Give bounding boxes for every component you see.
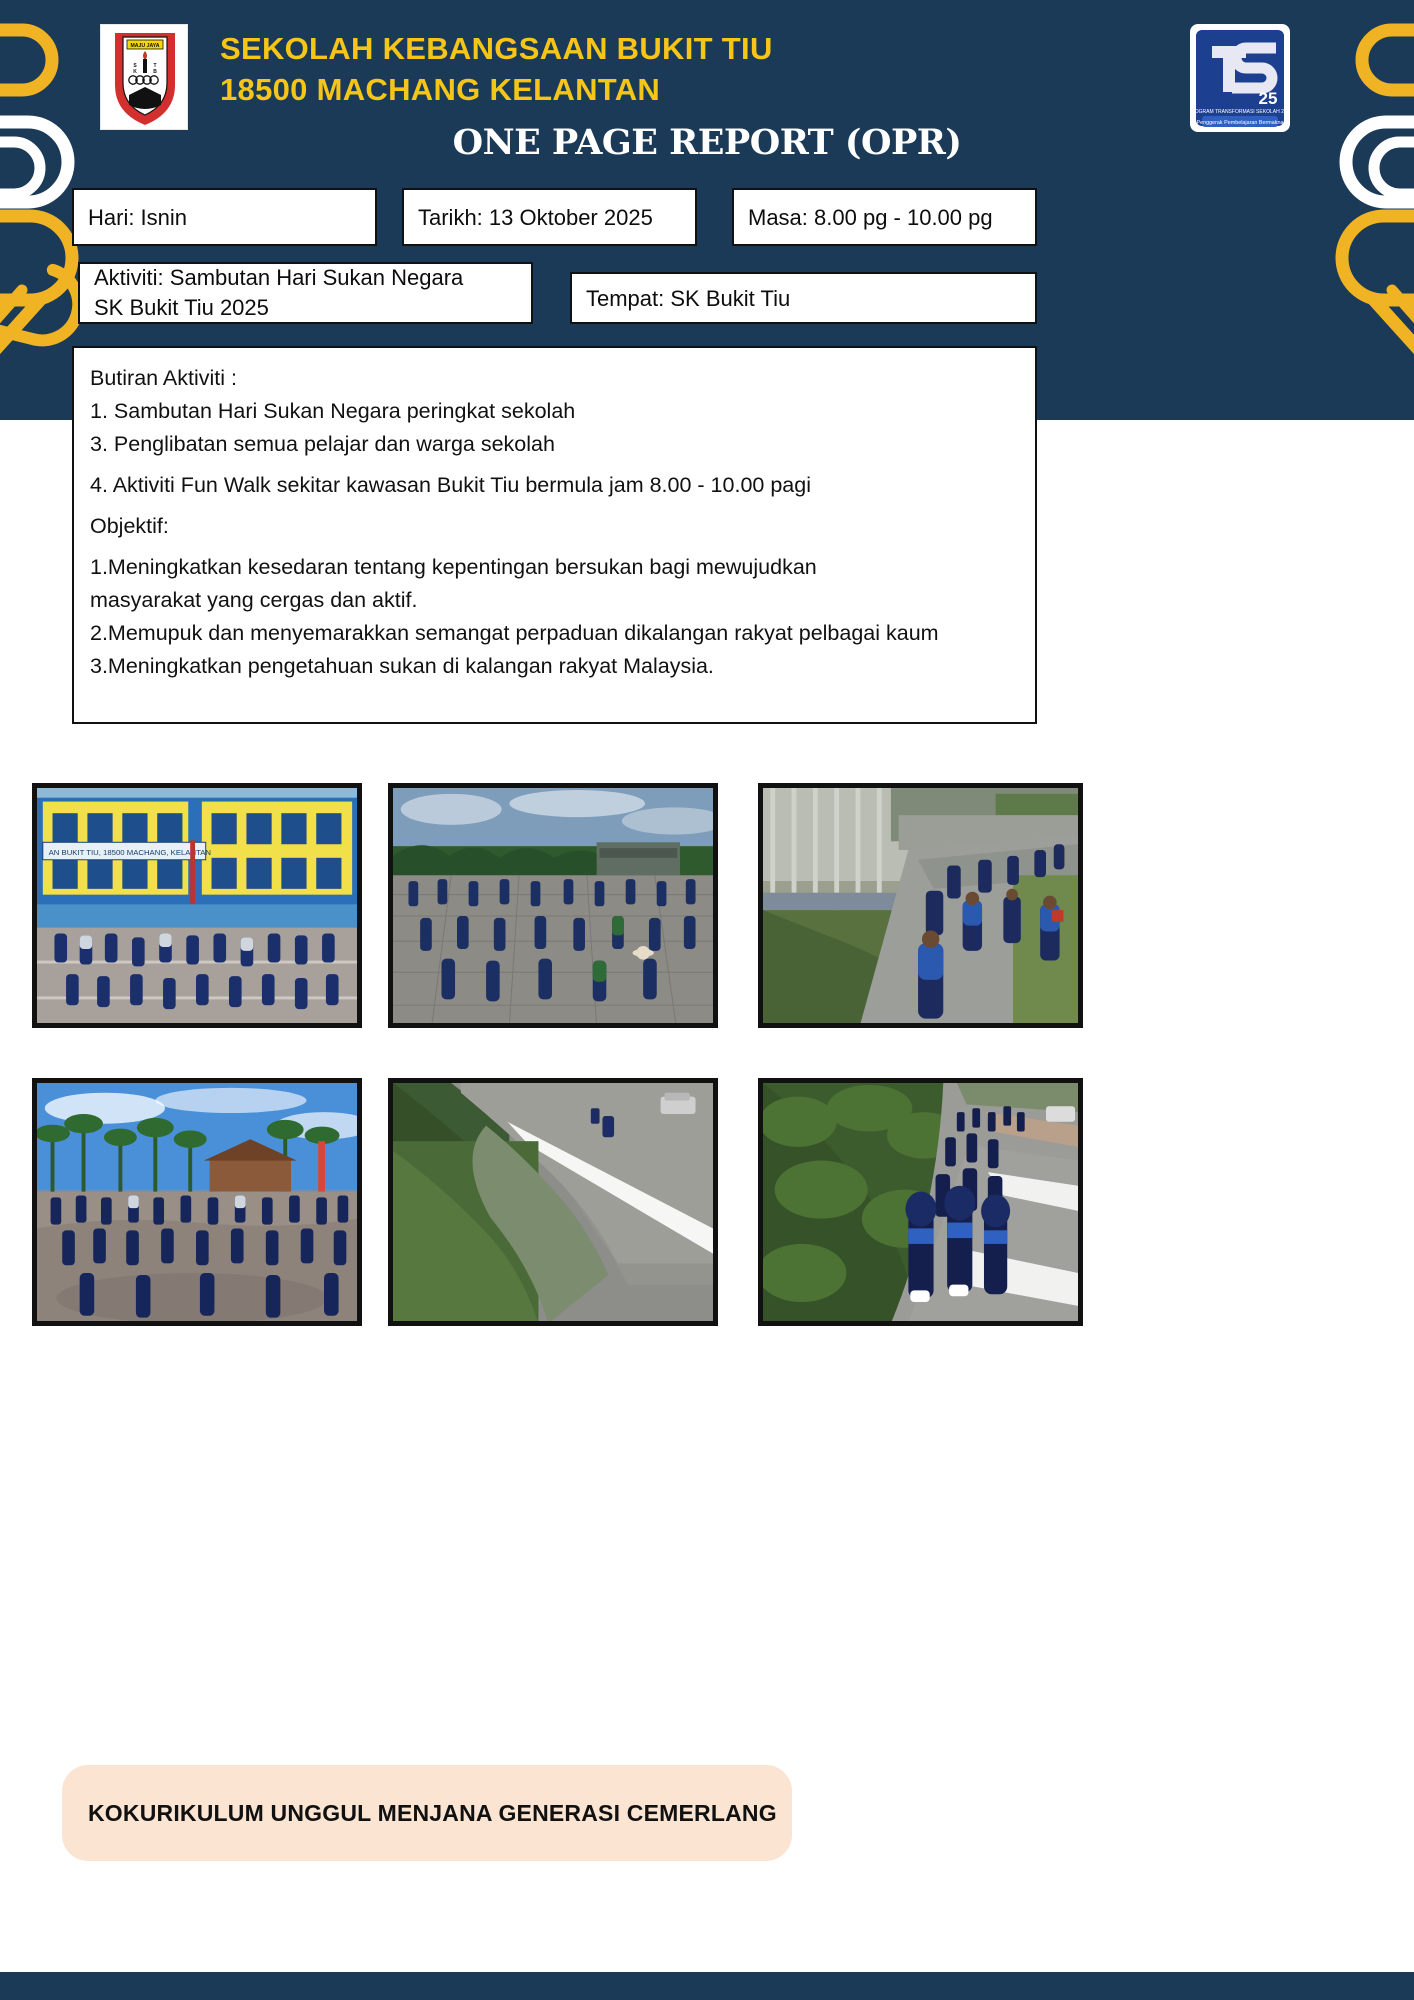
photo-5: [388, 1078, 718, 1326]
spacer: [90, 461, 1019, 469]
photo-6: [758, 1078, 1083, 1326]
svg-text:B: B: [153, 69, 157, 75]
objektif-heading: Objektif:: [90, 510, 1019, 543]
objektif-3: 3.Meningkatkan pengetahuan sukan di kala…: [90, 650, 1019, 683]
activity-details-box: Butiran Aktiviti : 1. Sambutan Hari Suka…: [72, 346, 1037, 724]
photo-3: [758, 783, 1083, 1028]
svg-text:MAJU JAYA: MAJU JAYA: [130, 43, 159, 49]
spacer: [90, 502, 1019, 510]
field-aktiviti-line-2: SK Bukit Tiu 2025: [94, 293, 463, 323]
field-aktiviti-line-1: Aktiviti: Sambutan Hari Sukan Negara: [94, 263, 463, 293]
photo-2: [388, 783, 718, 1028]
school-name-line-1: SEKOLAH KEBANGSAAN BUKIT TIU: [220, 28, 1120, 69]
butiran-item-3: 4. Aktiviti Fun Walk sekitar kawasan Buk…: [90, 469, 1019, 502]
field-masa-value: Masa: 8.00 pg - 10.00 pg: [748, 202, 993, 233]
school-name-line-2: 18500 MACHANG KELANTAN: [220, 69, 1120, 110]
butiran-item-1: 1. Sambutan Hari Sukan Negara peringkat …: [90, 395, 1019, 428]
butiran-heading: Butiran Aktiviti :: [90, 362, 1019, 395]
svg-text:K: K: [133, 69, 137, 75]
spacer: [90, 543, 1019, 551]
ts25-logo: 25 PROGRAM TRANSFORMASI SEKOLAH 2025 Pen…: [1190, 24, 1290, 132]
field-hari-value: Hari: Isnin: [88, 202, 187, 233]
butiran-item-2: 3. Penglibatan semua pelajar dan warga s…: [90, 428, 1019, 461]
school-crest-logo: MAJU JAYA S T K B SEKOLAH KEBANGSAAN BUK…: [100, 24, 188, 130]
field-hari: Hari: Isnin: [72, 188, 377, 246]
field-tempat-value: Tempat: SK Bukit Tiu: [586, 283, 790, 314]
field-tarikh-value: Tarikh: 13 Oktober 2025: [418, 202, 653, 233]
opr-page: MAJU JAYA S T K B SEKOLAH KEBANGSAAN BUK…: [0, 0, 1414, 2000]
photo-4: [32, 1078, 362, 1326]
objektif-2: 2.Memupuk dan menyemarakkan semangat per…: [90, 617, 1019, 650]
field-tarikh: Tarikh: 13 Oktober 2025: [402, 188, 697, 246]
field-tempat: Tempat: SK Bukit Tiu: [570, 272, 1037, 324]
photo-1: AN BUKIT TIU, 18500 MACHANG, KELANTAN: [32, 783, 362, 1028]
svg-text:PROGRAM TRANSFORMASI SEKOLAH 2: PROGRAM TRANSFORMASI SEKOLAH 2025: [1190, 109, 1290, 115]
objektif-1-line-1: 1.Meningkatkan kesedaran tentang kepenti…: [90, 551, 1019, 584]
field-masa: Masa: 8.00 pg - 10.00 pg: [732, 188, 1037, 246]
paperclip-decoration-right: [1294, 0, 1414, 420]
school-name: SEKOLAH KEBANGSAAN BUKIT TIU 18500 MACHA…: [220, 28, 1120, 110]
bottom-bar: [0, 1972, 1414, 2000]
svg-text:AN BUKIT TIU, 18500 MACHANG, K: AN BUKIT TIU, 18500 MACHANG, KELANTAN: [49, 848, 211, 857]
field-aktiviti: Aktiviti: Sambutan Hari Sukan Negara SK …: [78, 262, 533, 324]
page-title: ONE PAGE REPORT (OPR): [0, 122, 1414, 163]
svg-text:25: 25: [1259, 89, 1278, 108]
footer-slogan-banner: KOKURIKULUM UNGGUL MENJANA GENERASI CEME…: [62, 1765, 792, 1861]
footer-slogan-text: KOKURIKULUM UNGGUL MENJANA GENERASI CEME…: [88, 1800, 777, 1827]
objektif-1-line-2: masyarakat yang cergas dan aktif.: [90, 584, 1019, 617]
